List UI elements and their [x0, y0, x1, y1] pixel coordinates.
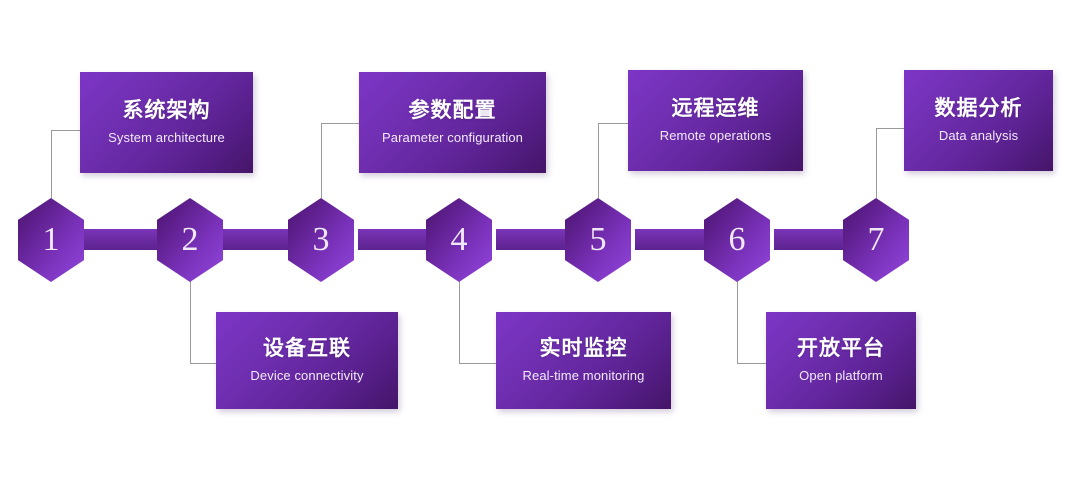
step-card-7-title-cn: 数据分析	[935, 97, 1023, 121]
step-hexagon-5-number: 5	[590, 223, 607, 257]
step-card-1-title-en: System architecture	[108, 130, 225, 146]
step-card-1[interactable]: 系统架构 System architecture	[80, 72, 253, 173]
step-card-7-title-en: Data analysis	[939, 128, 1018, 144]
step-hexagon-3-number: 3	[313, 223, 330, 257]
connector-step-3-horizontal	[321, 123, 360, 124]
connector-step-6-vertical	[737, 272, 738, 363]
step-card-6-title-en: Open platform	[799, 368, 883, 384]
connector-step-1-horizontal	[51, 130, 82, 131]
step-hexagon-2[interactable]: 2	[157, 198, 223, 282]
step-card-4-title-cn: 实时监控	[540, 337, 628, 361]
step-card-4-title-en: Real-time monitoring	[523, 368, 645, 384]
connector-step-4-horizontal	[459, 363, 497, 364]
step-card-1-title-cn: 系统架构	[123, 99, 211, 123]
connector-step-7-horizontal	[876, 128, 905, 129]
step-card-6-title-cn: 开放平台	[797, 337, 885, 361]
step-hexagon-7-number: 7	[868, 223, 885, 257]
connector-step-2-horizontal	[190, 363, 218, 364]
step-hexagon-4[interactable]: 4	[426, 198, 492, 282]
connector-step-1-vertical	[51, 130, 52, 198]
spine-segment-2-3	[218, 229, 300, 250]
step-hexagon-1[interactable]: 1	[18, 198, 84, 282]
step-card-5-title-en: Remote operations	[660, 128, 772, 144]
step-hexagon-2-number: 2	[182, 223, 199, 257]
step-hexagon-5[interactable]: 5	[565, 198, 631, 282]
step-card-5[interactable]: 远程运维 Remote operations	[628, 70, 803, 171]
step-card-3-title-en: Parameter configuration	[382, 130, 523, 146]
step-card-4[interactable]: 实时监控 Real-time monitoring	[496, 312, 671, 409]
step-hexagon-7[interactable]: 7	[843, 198, 909, 282]
step-hexagon-1-number: 1	[43, 223, 60, 257]
step-hexagon-4-number: 4	[451, 223, 468, 257]
connector-step-2-vertical	[190, 272, 191, 363]
step-card-3[interactable]: 参数配置 Parameter configuration	[359, 72, 546, 173]
connector-step-6-horizontal	[737, 363, 767, 364]
step-card-2-title-en: Device connectivity	[250, 368, 363, 384]
connector-step-4-vertical	[459, 272, 460, 363]
step-hexagon-3[interactable]: 3	[288, 198, 354, 282]
connector-step-3-vertical	[321, 123, 322, 198]
connector-step-7-vertical	[876, 128, 877, 198]
connector-step-5-horizontal	[598, 123, 629, 124]
step-card-2[interactable]: 设备互联 Device connectivity	[216, 312, 398, 409]
connector-step-5-vertical	[598, 123, 599, 198]
step-card-7[interactable]: 数据分析 Data analysis	[904, 70, 1053, 171]
step-hexagon-6[interactable]: 6	[704, 198, 770, 282]
step-card-6[interactable]: 开放平台 Open platform	[766, 312, 916, 409]
step-card-5-title-cn: 远程运维	[672, 97, 760, 121]
step-card-2-title-cn: 设备互联	[263, 337, 351, 361]
spine-segment-1-2	[78, 229, 160, 250]
step-card-3-title-cn: 参数配置	[409, 99, 497, 123]
step-hexagon-6-number: 6	[729, 223, 746, 257]
diagram-canvas: 系统架构 System architecture 参数配置 Parameter …	[0, 0, 1080, 493]
